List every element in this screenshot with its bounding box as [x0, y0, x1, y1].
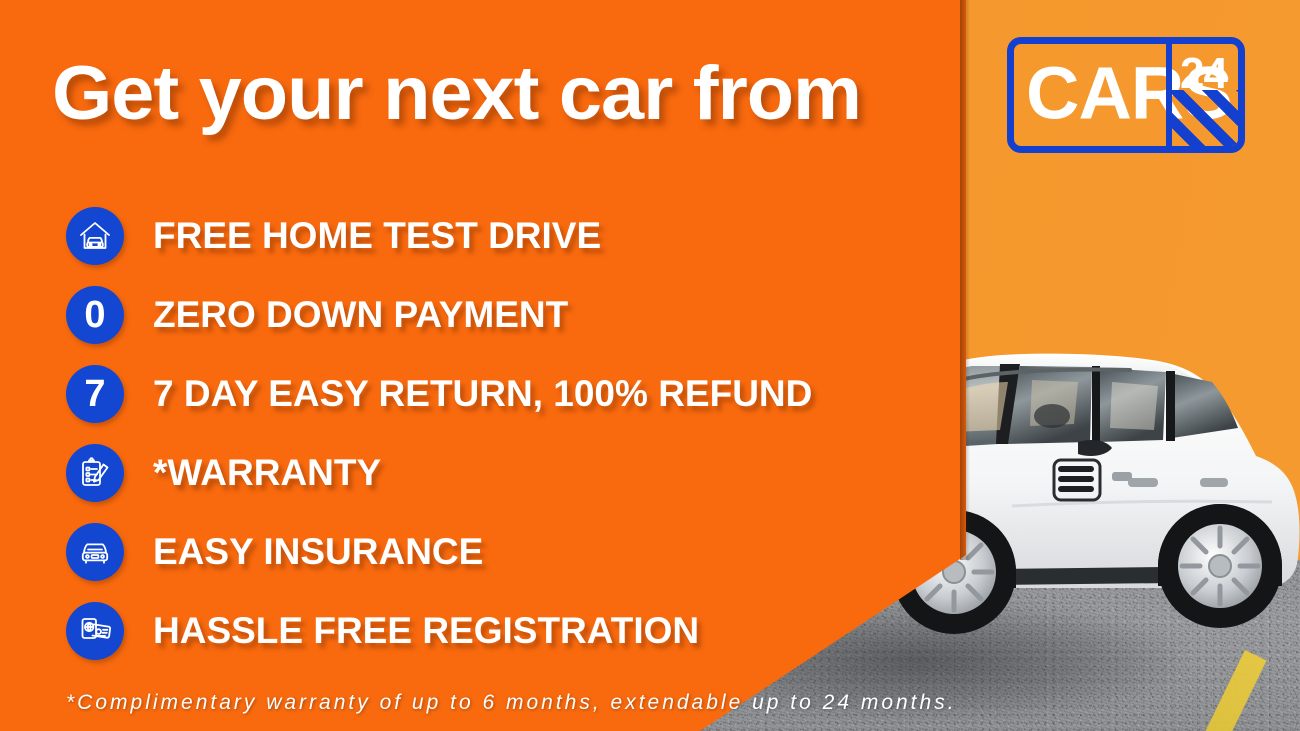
zero-icon-value: 0	[84, 296, 105, 334]
feature-list: FREE HOME TEST DRIVE 0 ZERO DOWN PAYMENT…	[66, 196, 946, 670]
seven-icon-value: 7	[84, 375, 105, 413]
feature-item-seven-day-return[interactable]: 7 7 DAY EASY RETURN, 100% REFUND	[66, 354, 946, 433]
disclaimer-text: *Complimentary warranty of up to 6 month…	[66, 691, 1286, 715]
feature-label: *WARRANTY	[153, 452, 381, 494]
diagonal-stripes-icon	[1172, 90, 1238, 146]
feature-label: FREE HOME TEST DRIVE	[153, 215, 601, 257]
car-front-icon	[66, 523, 124, 581]
feature-label: 7 DAY EASY RETURN, 100% REFUND	[153, 373, 812, 415]
home-test-drive-icon	[66, 207, 124, 265]
feature-item-hassle-free-registration[interactable]: HASSLE FREE REGISTRATION	[66, 591, 946, 670]
page-title: Get your next car from	[52, 56, 990, 132]
feature-item-zero-down-payment[interactable]: 0 ZERO DOWN PAYMENT	[66, 275, 946, 354]
feature-label: HASSLE FREE REGISTRATION	[153, 610, 699, 652]
feature-label: ZERO DOWN PAYMENT	[153, 294, 568, 336]
clipboard-pen-icon	[66, 444, 124, 502]
logo-24-panel: 24	[1172, 44, 1238, 146]
logo-inner: CARS 24	[1014, 44, 1238, 146]
feature-item-home-test-drive[interactable]: FREE HOME TEST DRIVE	[66, 196, 946, 275]
cars24-promo-banner: Get your next car from CARS 24	[0, 0, 1300, 731]
cars24-logo[interactable]: CARS 24	[1007, 37, 1245, 153]
zero-icon: 0	[66, 286, 124, 344]
seven-icon: 7	[66, 365, 124, 423]
feature-item-warranty[interactable]: *WARRANTY	[66, 433, 946, 512]
rear-wheel	[1158, 504, 1282, 628]
feature-item-easy-insurance[interactable]: EASY INSURANCE	[66, 512, 946, 591]
documents-id-icon	[66, 602, 124, 660]
feature-label: EASY INSURANCE	[153, 531, 483, 573]
